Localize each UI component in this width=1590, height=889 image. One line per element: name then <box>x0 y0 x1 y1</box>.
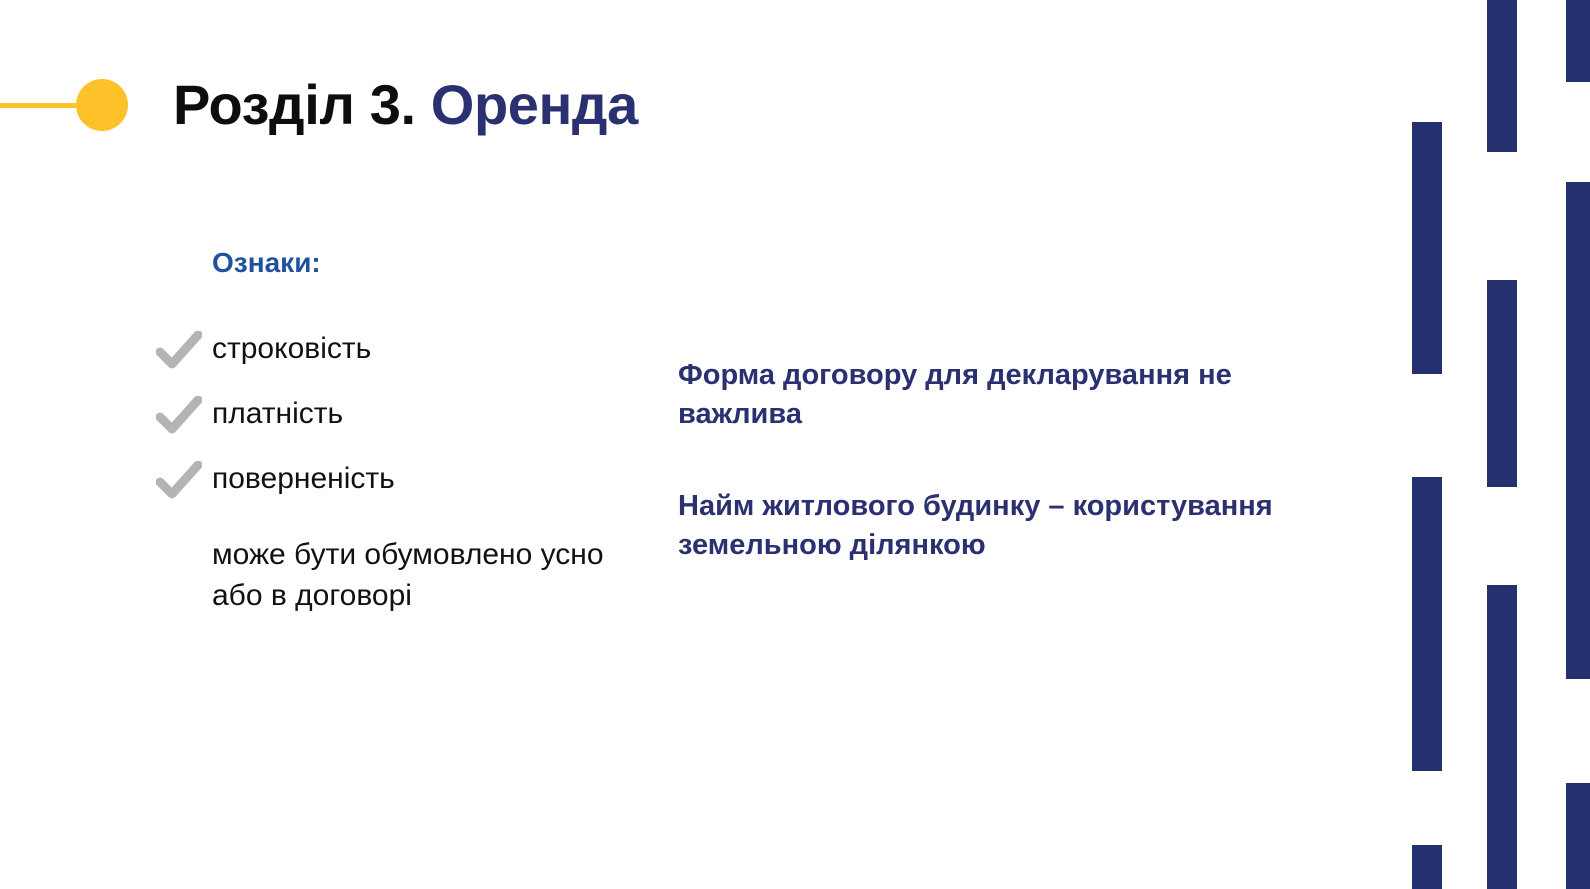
statement-text: Найм житлового будинку – користування зе… <box>678 487 1343 566</box>
page-title-accent: Оренда <box>431 73 638 136</box>
decorative-bar <box>1412 477 1442 771</box>
list-item: платність <box>212 392 682 436</box>
check-icon <box>156 461 202 501</box>
check-icon <box>156 396 202 436</box>
left-content-column: Ознаки: строковість платність <box>212 248 682 647</box>
decorative-bar <box>1566 182 1590 679</box>
decorative-bar <box>1412 845 1442 889</box>
features-checklist: строковість платність поверненість <box>212 327 682 501</box>
decorative-bar <box>1487 585 1517 889</box>
note-text: може бути обумовлено усно або в договорі <box>212 534 642 617</box>
list-item-label: строковість <box>212 332 371 367</box>
list-item-label: платність <box>212 397 343 432</box>
statement-text: Форма договору для декларування не важли… <box>678 356 1343 435</box>
page-title-space <box>416 73 431 136</box>
decorative-bar <box>1566 0 1590 82</box>
horizontal-rule-icon <box>0 103 78 108</box>
list-item: строковість <box>212 327 682 371</box>
slide-canvas: Розділ 3. Оренда Ознаки: строковість <box>0 0 1590 889</box>
decorative-bar <box>1487 0 1517 152</box>
decorative-bar <box>1566 783 1590 889</box>
list-item-label: поверненість <box>212 462 395 497</box>
page-title: Розділ 3. Оренда <box>173 77 638 133</box>
page-title-main: Розділ 3. <box>173 73 416 136</box>
check-icon <box>156 331 202 371</box>
decorative-bar <box>1487 280 1517 487</box>
right-content-column: Форма договору для декларування не важли… <box>678 356 1343 566</box>
circle-bullet-icon <box>76 79 128 131</box>
section-subheading: Ознаки: <box>212 248 682 279</box>
decorative-bar <box>1412 122 1442 374</box>
list-item: поверненість <box>212 457 682 501</box>
slide-title-row: Розділ 3. Оренда <box>0 62 638 148</box>
